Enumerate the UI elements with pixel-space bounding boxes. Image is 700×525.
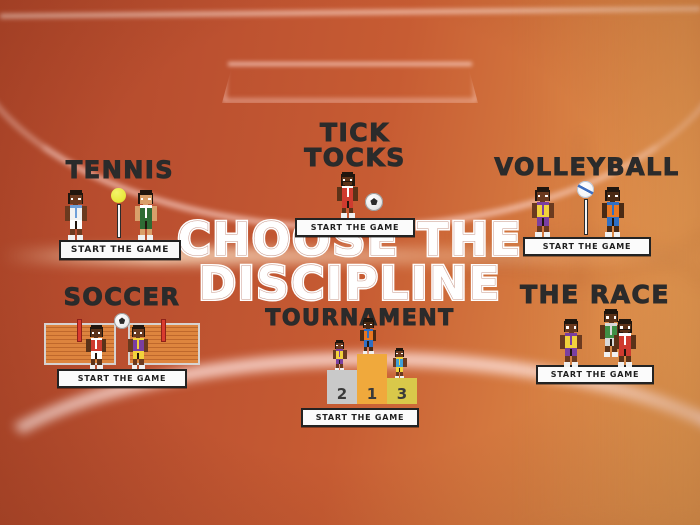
sprite-pixel — [145, 208, 148, 218]
start-button-tournament[interactable]: START THE GAME — [301, 408, 419, 427]
athlete-sprite — [391, 348, 408, 379]
sprite-pixel — [343, 357, 346, 359]
keepy-uppy-scene-icon — [265, 170, 445, 218]
sprite-pixel — [604, 311, 605, 322]
race-runners-scene-icon — [500, 307, 690, 365]
sprite-pixel — [606, 316, 608, 318]
sprite-pixel — [364, 324, 366, 326]
sprite-pixel — [144, 327, 145, 337]
podium-place-number: 1 — [367, 387, 377, 404]
athlete-sprite — [529, 187, 557, 237]
sprite-pixel — [139, 365, 145, 369]
sprite-pixel — [82, 193, 83, 204]
game-title-the-race: THE RACE — [500, 282, 690, 307]
sprite-pixel — [542, 218, 545, 226]
sprite-pixel — [577, 345, 582, 349]
podium-scene-icon: 213 — [265, 330, 455, 408]
sprite-pixel — [535, 232, 541, 237]
sprite-pixel — [339, 351, 341, 357]
start-button-tick-tocks[interactable]: START THE GAME — [295, 218, 415, 237]
sprite-pixel — [363, 320, 364, 328]
sprite-pixel — [605, 190, 620, 193]
sprite-pixel — [367, 331, 369, 338]
sprite-pixel — [370, 324, 372, 326]
athlete-sprite — [84, 325, 108, 369]
sprite-pixel — [75, 208, 78, 218]
start-button-the-race[interactable]: START THE GAME — [536, 365, 654, 384]
sprite-pixel — [138, 193, 153, 196]
sprite-pixel — [605, 232, 611, 237]
soccer-ball-icon — [114, 313, 130, 329]
game-title-soccer: SOCCER — [22, 285, 222, 309]
sprite-pixel — [77, 235, 83, 240]
game-menu-screen: CHOOSE THE DISCIPLINE TENNIS START THE G… — [0, 0, 700, 525]
ball-panel — [119, 317, 125, 323]
sprite-pixel — [341, 174, 342, 184]
game-card-volleyball[interactable]: VOLLEYBALL START THE GAME — [487, 155, 687, 256]
sprite-pixel — [92, 332, 94, 334]
sprite-pixel — [71, 198, 74, 201]
sprite-pixel — [577, 321, 578, 332]
game-title-tick-tocks: TICK TOCKS — [265, 120, 445, 170]
goal-post — [77, 319, 82, 342]
sprite-pixel — [631, 345, 636, 349]
athlete-sprite — [62, 190, 90, 240]
game-card-soccer[interactable]: SOCCER START THE GAME — [22, 285, 222, 388]
sprite-pixel — [570, 349, 572, 356]
sprite-pixel — [612, 218, 615, 226]
sprite-pixel — [618, 362, 624, 367]
sprite-pixel — [147, 235, 153, 240]
sprite-pixel — [401, 353, 403, 355]
tennis-scene-icon — [20, 182, 220, 240]
volleyball-icon — [577, 181, 594, 198]
sprite-pixel — [82, 218, 87, 222]
sprite-pixel — [545, 195, 548, 198]
athlete-sprite — [612, 319, 638, 367]
volleyball-scene-icon — [487, 179, 687, 237]
sprite-pixel — [78, 198, 81, 201]
sprite-pixel — [137, 353, 139, 360]
sprite-pixel — [68, 193, 83, 196]
sprite-pixel — [570, 336, 572, 346]
sprite-pixel — [373, 338, 377, 341]
athlete-sprite — [132, 190, 160, 240]
sprite-pixel — [95, 340, 97, 349]
sprite-pixel — [604, 352, 610, 357]
sprite-pixel — [102, 349, 106, 352]
athlete-sprite — [558, 319, 584, 367]
sprite-pixel — [544, 232, 550, 237]
start-button-tennis[interactable]: START THE GAME — [59, 240, 181, 260]
net-pole — [117, 204, 121, 238]
podium-place-number: 3 — [397, 387, 407, 404]
sprite-pixel — [564, 321, 565, 332]
sprite-pixel — [137, 340, 139, 349]
sprite-pixel — [138, 235, 144, 240]
sprite-pixel — [566, 326, 568, 328]
sprite-pixel — [68, 193, 69, 204]
sprite-pixel — [403, 350, 404, 357]
podium-place-number: 2 — [337, 387, 347, 404]
sprite-pixel — [549, 215, 554, 219]
game-title-volleyball: VOLLEYBALL — [487, 155, 687, 179]
sprite-pixel — [95, 353, 97, 360]
sprite-pixel — [102, 327, 103, 337]
ball-panel — [370, 198, 377, 205]
game-title-tennis: TENNIS — [20, 158, 220, 182]
sprite-pixel — [347, 201, 349, 208]
sprite-pixel — [399, 359, 401, 365]
sprite-pixel — [626, 362, 632, 367]
athlete-sprite — [335, 172, 360, 218]
sprite-pixel — [542, 205, 545, 215]
sprite-pixel — [618, 321, 619, 332]
sprite-pixel — [138, 193, 139, 204]
soccer-goals-scene-icon — [22, 309, 222, 369]
goal-post — [161, 319, 166, 342]
sprite-pixel — [140, 332, 142, 334]
game-card-tick-tocks[interactable]: TICK TOCKS START THE GAME — [265, 120, 445, 237]
sprite-pixel — [564, 362, 570, 367]
sprite-pixel — [75, 221, 78, 229]
sprite-pixel — [335, 342, 336, 349]
sprite-pixel — [403, 365, 406, 367]
sprite-pixel — [572, 362, 578, 367]
game-card-tennis[interactable]: TENNIS START THE GAME — [20, 158, 220, 260]
ball-stripe — [577, 181, 594, 198]
sprite-pixel — [619, 215, 624, 219]
sprite-pixel — [341, 345, 343, 347]
sprite-pixel — [615, 195, 618, 198]
start-button-volleyball[interactable]: START THE GAME — [523, 237, 651, 256]
sprite-pixel — [353, 197, 358, 200]
sprite-pixel — [141, 198, 144, 201]
game-card-tournament[interactable]: TOURNAMENT 213 START THE GAME — [265, 308, 455, 427]
sprite-pixel — [98, 332, 100, 334]
sprite-pixel — [612, 205, 615, 215]
sprite-pixel — [134, 332, 136, 334]
sprite-pixel — [608, 195, 611, 198]
net-pole — [584, 199, 588, 235]
sprite-pixel — [90, 365, 96, 369]
sprite-pixel — [624, 336, 626, 346]
sprite-pixel — [336, 345, 338, 347]
sprite-pixel — [396, 353, 398, 355]
sprite-pixel — [90, 327, 91, 337]
sprite-pixel — [68, 235, 74, 240]
athlete-sprite — [599, 187, 627, 237]
sprite-pixel — [347, 188, 349, 197]
sprite-pixel — [373, 320, 374, 328]
sprite-pixel — [538, 195, 541, 198]
athlete-sprite — [126, 325, 150, 369]
game-card-the-race[interactable]: THE RACE START THE GAME — [500, 282, 690, 384]
sprite-pixel — [605, 190, 606, 201]
soccer-ball-icon — [365, 193, 383, 211]
sprite-pixel — [624, 349, 626, 356]
sprite-pixel — [152, 218, 157, 222]
sprite-pixel — [97, 365, 103, 369]
sprite-pixel — [353, 174, 354, 184]
sprite-pixel — [132, 327, 133, 337]
podium-block-1: 1 — [357, 354, 387, 404]
sprite-pixel — [341, 213, 347, 218]
athlete-sprite — [331, 340, 348, 371]
sprite-pixel — [574, 326, 576, 328]
sprite-pixel — [148, 198, 151, 201]
sprite-pixel — [145, 221, 148, 229]
sprite-pixel — [535, 190, 550, 193]
sprite-pixel — [132, 365, 138, 369]
tennis-ball-icon — [111, 188, 126, 203]
sprite-pixel — [395, 350, 396, 357]
sprite-pixel — [343, 342, 344, 349]
sprite-pixel — [614, 232, 620, 237]
sprite-pixel — [144, 349, 148, 352]
podium-block-3: 3 — [387, 378, 417, 404]
sprite-pixel — [619, 190, 620, 201]
podium-block-2: 2 — [327, 370, 357, 404]
athlete-sprite — [358, 318, 378, 355]
start-button-soccer[interactable]: START THE GAME — [57, 369, 187, 388]
sprite-pixel — [549, 190, 550, 201]
sprite-pixel — [631, 321, 632, 332]
sprite-pixel — [349, 213, 355, 218]
sprite-pixel — [152, 193, 153, 204]
sprite-pixel — [535, 190, 536, 201]
